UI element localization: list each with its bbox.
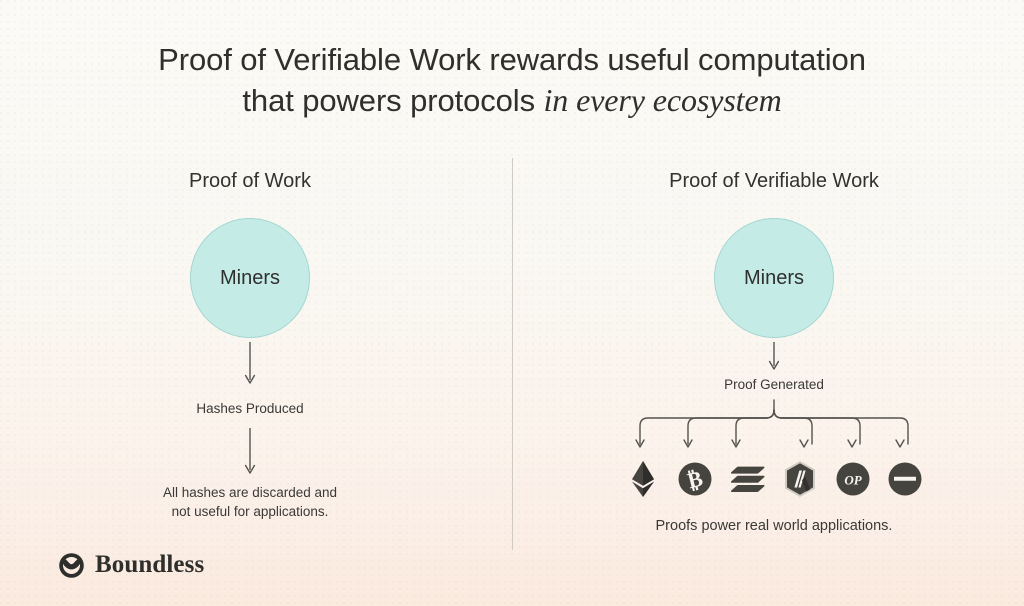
right-panel-heading: Proof of Verifiable Work: [524, 170, 1024, 193]
svg-text:OP: OP: [844, 473, 862, 488]
proof-of-work-panel: Proof of Work Miners Hashes Produced All…: [0, 160, 500, 560]
proof-of-verifiable-work-panel: Proof of Verifiable Work Miners Proof Ge…: [524, 160, 1024, 560]
right-miners-label: Miners: [744, 267, 804, 290]
left-miners-label: Miners: [220, 267, 280, 290]
brand-name: Boundless: [95, 551, 204, 579]
left-step-2-line-2: not useful for applications.: [172, 504, 329, 519]
ecosystem-logo-row: ₿: [624, 460, 924, 498]
right-step-1-label: Proof Generated: [524, 375, 1024, 394]
left-miners-node: Miners: [190, 218, 310, 338]
panel-divider: [512, 158, 513, 550]
infographic-canvas: Proof of Verifiable Work rewards useful …: [0, 0, 1024, 606]
right-arrow-1: [768, 342, 780, 374]
right-footer-label: Proofs power real world applications.: [524, 518, 1024, 534]
title-line-1: Proof of Verifiable Work rewards useful …: [0, 40, 1024, 80]
brand-lockup: Boundless: [58, 551, 204, 579]
left-arrow-1: [244, 342, 256, 388]
left-step-2-line-1: All hashes are discarded and: [163, 485, 337, 500]
ethereum-icon: [624, 460, 662, 498]
solana-icon: [729, 460, 767, 498]
left-arrow-2: [244, 428, 256, 478]
page-title: Proof of Verifiable Work rewards useful …: [0, 40, 1024, 121]
title-line-2: that powers protocols in every ecosystem: [0, 80, 1024, 121]
bitcoin-icon: ₿: [676, 460, 714, 498]
title-line-2-plain: that powers protocols: [242, 83, 543, 118]
title-line-2-emphasis: in every ecosystem: [544, 82, 782, 118]
left-step-2-label: All hashes are discarded and not useful …: [0, 483, 500, 521]
boundless-logo-icon: [58, 552, 85, 579]
arbitrum-icon: [781, 460, 819, 498]
base-icon: [886, 460, 924, 498]
right-miners-node: Miners: [714, 218, 834, 338]
optimism-icon: OP: [834, 460, 872, 498]
left-step-1-label: Hashes Produced: [0, 399, 500, 418]
left-panel-heading: Proof of Work: [0, 170, 500, 193]
